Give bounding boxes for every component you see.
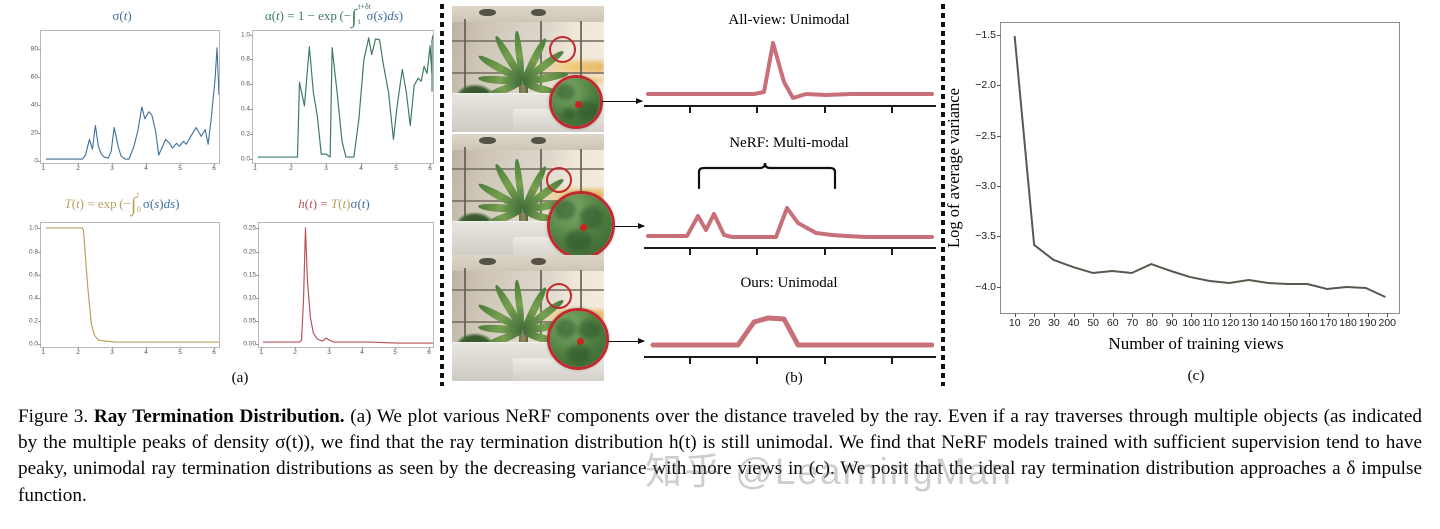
c-xtick-mark <box>1152 313 1153 317</box>
ytick-label: 0.00 <box>243 341 256 348</box>
c-ytick-mark <box>997 136 1001 137</box>
pointer-arrow-allview <box>602 101 642 102</box>
c-xtick-label: 10 <box>1009 317 1021 329</box>
c-ytick-label: −3.5 <box>975 230 996 242</box>
c-xtick-mark <box>1387 313 1388 317</box>
ytick-label: 0.15 <box>243 272 256 279</box>
xtick-label: 3 <box>110 165 114 172</box>
c-ytick-mark <box>997 287 1001 288</box>
xtick-label: 4 <box>144 349 148 356</box>
xtick-label: 6 <box>428 165 432 172</box>
plot-transmittance-line <box>41 223 219 347</box>
c-xtick-mark <box>1074 313 1075 317</box>
ytick-label: 20 <box>31 130 38 137</box>
ytick-label: 0.6 <box>29 272 38 279</box>
c-xtick-mark <box>1368 313 1369 317</box>
plot-alpha-title: α(t) = 1 − exp (− ∫ t+δt t σ(s)ds) <box>230 8 438 23</box>
sublabel-c: (c) <box>952 368 1440 385</box>
xtick-label: 2 <box>289 165 293 172</box>
ytick-label: 0.2 <box>241 131 250 138</box>
plot-h-title: h(t) = T(t)σ(t) <box>232 196 436 211</box>
plot-sigma-axes: 0 20 40 60 80 1 2 3 4 5 6 <box>40 30 220 164</box>
c-xtick-label: 60 <box>1107 317 1119 329</box>
c-xtick-mark <box>1250 313 1251 317</box>
sublabel-b: (b) <box>649 370 939 387</box>
c-xtick-label: 200 <box>1379 317 1397 329</box>
c-xtick-label: 150 <box>1280 317 1298 329</box>
xtick-label: 1 <box>41 165 45 172</box>
c-xtick-label: 140 <box>1261 317 1279 329</box>
c-xtick-label: 190 <box>1359 317 1377 329</box>
plot-sigma-line <box>41 31 219 163</box>
xtick-label: 5 <box>394 165 398 172</box>
distribution-title-nerf: NeRF: Multi-modal <box>644 135 934 152</box>
ytick-label: 1.0 <box>29 225 38 232</box>
ytick-label: 0.0 <box>241 156 250 163</box>
c-xtick-label: 100 <box>1182 317 1200 329</box>
c-xtick-mark <box>1348 313 1349 317</box>
panel-c-variance-chart: Log of average variance −1.5−2.0−2.5−3.0… <box>952 0 1440 398</box>
c-ytick-label: −4.0 <box>975 281 996 293</box>
xtick-label: 6 <box>212 165 216 172</box>
c-xtick-label: 50 <box>1087 317 1099 329</box>
ytick-label: 0.8 <box>241 56 250 63</box>
xtick-label: 5 <box>178 349 182 356</box>
c-x-axis-label: Number of training views <box>952 334 1440 354</box>
c-xtick-mark <box>1270 313 1271 317</box>
c-ytick-mark <box>997 236 1001 237</box>
panel-b-ray-termination-examples: All-view: Unimodal NeRF: Multi-modal Our… <box>444 0 941 398</box>
xtick-label: 2 <box>76 349 80 356</box>
ytick-label: 0.4 <box>241 106 250 113</box>
plot-transmittance-axes: 0.0 0.2 0.4 0.6 0.8 1.0 1 2 3 4 5 6 <box>40 222 220 348</box>
c-xtick-label: 80 <box>1146 317 1158 329</box>
xtick-label: 2 <box>76 165 80 172</box>
c-xtick-mark <box>1093 313 1094 317</box>
c-ytick-label: −2.5 <box>975 130 996 142</box>
distribution-title-allview: All-view: Unimodal <box>644 12 934 29</box>
c-xtick-label: 120 <box>1222 317 1240 329</box>
c-xtick-mark <box>1132 313 1133 317</box>
plot-h-axes: 0.00 0.05 0.10 0.15 0.20 0.25 1 2 3 4 5 … <box>258 222 434 348</box>
xtick-label: 4 <box>360 349 364 356</box>
xtick-label: 4 <box>144 165 148 172</box>
pointer-arrow-nerf <box>614 226 644 227</box>
xtick-label: 2 <box>293 349 297 356</box>
c-xtick-mark <box>1034 313 1035 317</box>
c-xtick-label: 40 <box>1068 317 1080 329</box>
c-xtick-mark <box>1211 313 1212 317</box>
plot-transmittance-t: T(t) = exp (− ∫ t 0 σ(s)ds) 0.0 0.2 0.4 … <box>22 196 222 371</box>
xtick-label: 5 <box>393 349 397 356</box>
plot-alpha-axes: 0.0 0.2 0.4 0.6 0.8 1.0 1 2 3 4 5 6 <box>252 30 434 164</box>
plot-h-t: h(t) = T(t)σ(t) 0.00 0.05 0.10 0.15 0.20… <box>232 196 436 371</box>
c-line-series <box>1001 23 1399 313</box>
roi-zoom-allview <box>549 75 603 129</box>
xtick-label: 1 <box>41 349 45 356</box>
roi-zoom-ours <box>547 308 609 370</box>
c-xtick-mark <box>1328 313 1329 317</box>
c-ytick-label: −3.0 <box>975 180 996 192</box>
c-ytick-mark <box>997 186 1001 187</box>
distribution-plot-nerf <box>646 178 934 248</box>
xtick-label: 3 <box>324 165 328 172</box>
c-xtick-label: 130 <box>1241 317 1259 329</box>
plot-sigma-t: σ(t) 0 20 40 60 80 1 2 3 4 5 6 <box>22 8 222 190</box>
c-xtick-label: 30 <box>1048 317 1060 329</box>
distribution-curve-nerf <box>646 178 934 248</box>
plot-sigma-title: σ(t) <box>22 8 222 23</box>
roi-zoom-nerf <box>547 191 615 259</box>
roi-circle <box>546 283 572 309</box>
plot-alpha-line <box>253 31 433 163</box>
sublabel-a: (a) <box>180 370 300 387</box>
ytick-label: 40 <box>31 102 38 109</box>
c-xtick-mark <box>1191 313 1192 317</box>
plot-transmittance-title: T(t) = exp (− ∫ t 0 σ(s)ds) <box>22 196 222 211</box>
plot-h-line <box>259 223 433 347</box>
ytick-label: 60 <box>31 74 38 81</box>
panel-a-nerf-components: σ(t) 0 20 40 60 80 1 2 3 4 5 6 <box>0 0 440 398</box>
c-xtick-label: 170 <box>1320 317 1338 329</box>
distribution-plot-ours <box>650 300 934 358</box>
c-xtick-mark <box>1172 313 1173 317</box>
c-ytick-mark <box>997 85 1001 86</box>
c-xtick-mark <box>1230 313 1231 317</box>
c-xtick-label: 20 <box>1028 317 1040 329</box>
distribution-curve-ours <box>650 300 934 358</box>
xtick-label: 3 <box>110 349 114 356</box>
ytick-label: 0.05 <box>243 318 256 325</box>
c-ytick-mark <box>997 35 1001 36</box>
ytick-label: 0.10 <box>243 295 256 302</box>
figure-caption: Figure 3. Ray Termination Distribution. … <box>18 404 1422 509</box>
ytick-label: 0.8 <box>29 249 38 256</box>
c-ytick-label: −1.5 <box>975 29 996 41</box>
c-ytick-label: −2.0 <box>975 79 996 91</box>
ytick-label: 0.6 <box>241 81 250 88</box>
pointer-arrow-ours <box>608 341 644 342</box>
xtick-label: 6 <box>427 349 431 356</box>
xtick-label: 1 <box>253 165 257 172</box>
xtick-label: 5 <box>178 165 182 172</box>
c-xtick-mark <box>1309 313 1310 317</box>
c-xtick-mark <box>1054 313 1055 317</box>
c-xtick-label: 90 <box>1166 317 1178 329</box>
c-xtick-mark <box>1015 313 1016 317</box>
roi-circle <box>546 167 572 193</box>
ytick-label: 0.20 <box>243 249 256 256</box>
distribution-plot-allview <box>646 36 934 106</box>
c-xtick-label: 180 <box>1339 317 1357 329</box>
c-xtick-label: 160 <box>1300 317 1318 329</box>
xtick-label: 6 <box>212 349 216 356</box>
ytick-label: 1.0 <box>241 32 250 39</box>
ytick-label: 0.2 <box>29 318 38 325</box>
xtick-label: 4 <box>359 165 363 172</box>
caption-prefix: Figure 3. <box>18 406 94 427</box>
xtick-label: 3 <box>327 349 331 356</box>
xtick-label: 1 <box>259 349 263 356</box>
c-plot-area: −1.5−2.0−2.5−3.0−3.5−4.0 102030405060708… <box>1000 22 1400 314</box>
distribution-title-ours: Ours: Unimodal <box>644 275 934 292</box>
c-xtick-label: 70 <box>1127 317 1139 329</box>
distribution-curve-allview <box>646 36 934 106</box>
ytick-label: 0.0 <box>29 341 38 348</box>
ytick-label: 80 <box>31 46 38 53</box>
plot-alpha-t: α(t) = 1 − exp (− ∫ t+δt t σ(s)ds) 0.0 0… <box>230 8 438 190</box>
ytick-label: 0.25 <box>243 225 256 232</box>
c-xtick-label: 110 <box>1202 317 1219 329</box>
c-xtick-mark <box>1113 313 1114 317</box>
ytick-label: 0.4 <box>29 295 38 302</box>
c-xtick-mark <box>1289 313 1290 317</box>
figure-3: σ(t) 0 20 40 60 80 1 2 3 4 5 6 <box>0 0 1440 529</box>
caption-bold-title: Ray Termination Distribution. <box>94 406 345 427</box>
c-y-axis-label: Log of average variance <box>944 88 964 248</box>
